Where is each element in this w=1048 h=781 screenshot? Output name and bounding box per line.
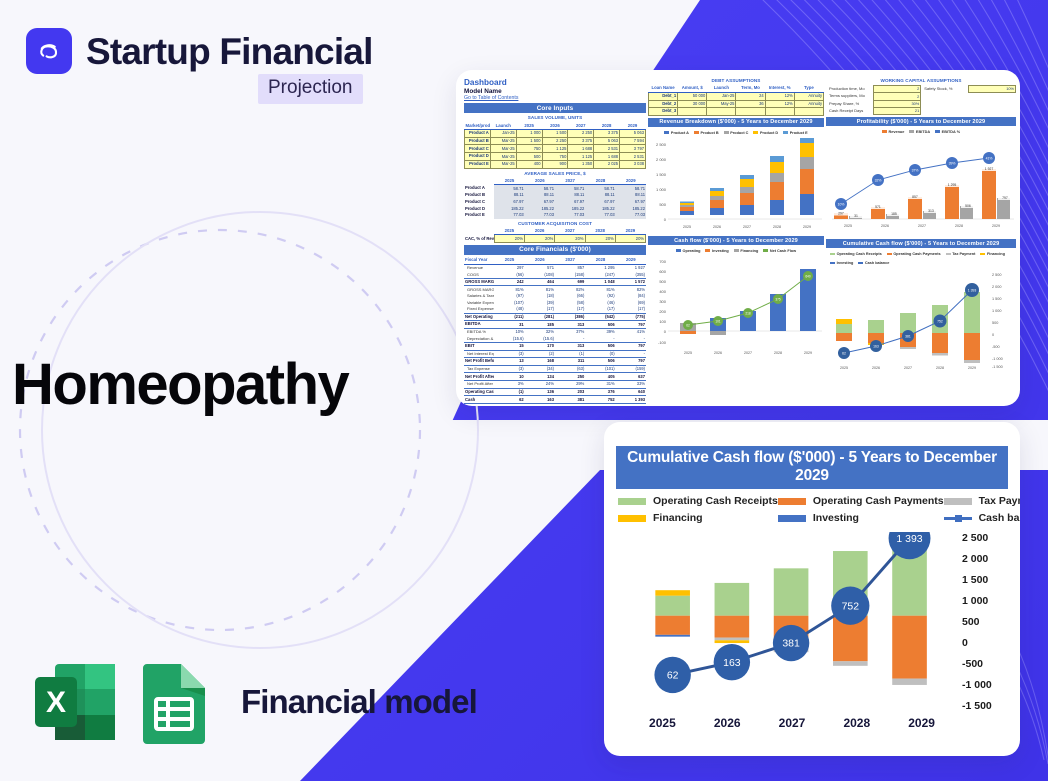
svg-text:2 500: 2 500 bbox=[656, 142, 667, 147]
row-value: 1 572 bbox=[616, 278, 646, 286]
row-value: (247) bbox=[585, 271, 615, 278]
svg-text:400: 400 bbox=[659, 289, 666, 294]
table-row: Product EMar-254009001 3502 0253 038 bbox=[465, 160, 646, 168]
y-tick: 500 bbox=[962, 616, 980, 628]
row-value: 41% bbox=[616, 328, 646, 335]
row-value: 464 bbox=[525, 278, 555, 286]
svg-text:2025: 2025 bbox=[840, 366, 848, 370]
bar-segment bbox=[892, 616, 927, 679]
row-value: (3) bbox=[494, 365, 524, 373]
svg-text:2 000: 2 000 bbox=[656, 157, 667, 162]
working-capital-header: WORKING CAPITAL ASSUMPTIONS bbox=[826, 78, 1016, 83]
dashboard-right-column: WORKING CAPITAL ASSUMPTIONS Production t… bbox=[826, 78, 1016, 404]
row-value: 313 bbox=[555, 321, 585, 329]
row-value: 640 bbox=[616, 388, 646, 396]
row-value: 506 bbox=[585, 358, 615, 366]
svg-text:752: 752 bbox=[937, 320, 943, 324]
legend-label: Cash balance bbox=[979, 512, 1020, 524]
table-row: Product AJan-251 0001 5002 2503 3755 063 bbox=[465, 130, 646, 138]
table-row: Fixed Expenses(48)(17)(17)(17)(17) bbox=[464, 306, 646, 313]
row-label: Cash bbox=[464, 396, 494, 404]
row-value: (355) bbox=[616, 271, 646, 278]
row-value: - bbox=[616, 350, 646, 358]
model-name-label: Model Name bbox=[464, 88, 646, 95]
dashboard-heading-block: Dashboard Model Name Go to Table of Cont… bbox=[464, 78, 646, 101]
cac-table: 2025 2026 2027 2028 2029 CAC, % of Reven… bbox=[464, 228, 646, 243]
bar-segment bbox=[892, 679, 927, 685]
row-value: 797 bbox=[616, 358, 646, 366]
row-value: 311 bbox=[555, 358, 585, 366]
svg-text:31: 31 bbox=[854, 214, 858, 218]
legend-item: Financing bbox=[980, 252, 1005, 256]
svg-text:2 000: 2 000 bbox=[992, 285, 1002, 289]
row-value: (386) bbox=[555, 313, 585, 321]
dashboard-left-column: Dashboard Model Name Go to Table of Cont… bbox=[464, 78, 646, 404]
dashboard-middle-column: DEBT ASSUMPTIONS Loan Name Amount, $ Lau… bbox=[648, 78, 824, 404]
col-year-2026: 2026 bbox=[525, 257, 555, 264]
legend-item: Operating bbox=[676, 249, 701, 253]
chart-x-axis: 2025 2026 2027 2028 2029 bbox=[630, 716, 954, 730]
col-term: Term, Mo bbox=[736, 85, 765, 92]
y-tick: 0 bbox=[962, 637, 968, 649]
table-row: GROSS MARGIN2424646991 0481 572 bbox=[464, 278, 646, 286]
legend-item: Operating Cash Payments bbox=[887, 252, 941, 256]
svg-text:1 927: 1 927 bbox=[985, 167, 994, 171]
legend-label: Investing bbox=[813, 512, 859, 524]
svg-text:300: 300 bbox=[659, 299, 666, 304]
bar-segment bbox=[715, 640, 750, 643]
brand-logo-icon bbox=[26, 28, 72, 74]
row-value: (0) bbox=[585, 350, 615, 358]
poster-canvas: Startup Financial Projection Homeopathy … bbox=[0, 0, 1048, 781]
svg-text:2028: 2028 bbox=[936, 366, 944, 370]
row-value: 168 bbox=[525, 358, 555, 366]
row-label: Net Interest Expense bbox=[464, 350, 494, 358]
svg-text:571: 571 bbox=[875, 205, 881, 209]
svg-text:2027: 2027 bbox=[744, 351, 752, 355]
svg-text:-1 000: -1 000 bbox=[992, 357, 1003, 361]
row-value: (48) bbox=[494, 306, 524, 313]
col-year-2028: 2028 bbox=[585, 257, 615, 264]
row-label: GROSS MARGIN % bbox=[464, 286, 494, 293]
legend-item-operating-cash-receipts: Operating Cash Receipts bbox=[618, 495, 778, 507]
core-financials-table: Fiscal Year 2025 2026 2027 2028 2029 Rev… bbox=[464, 257, 646, 404]
row-value: (108) bbox=[525, 271, 555, 278]
legend-item: Investing bbox=[705, 249, 728, 253]
row-value: 82% bbox=[616, 286, 646, 293]
table-row: Product DMar-255007501 1251 6882 531 bbox=[465, 153, 646, 161]
svg-text:2029: 2029 bbox=[803, 225, 811, 229]
legend-item-tax-payment: Tax Payment bbox=[944, 495, 1020, 507]
table-row: GROSS MARGIN %81%81%82%81%82% bbox=[464, 286, 646, 293]
table-row: EBITDA31185313506797 bbox=[464, 321, 646, 329]
row-value: 136 bbox=[525, 388, 555, 396]
svg-text:2026: 2026 bbox=[713, 225, 721, 229]
row-label: Salaries & Taxes bbox=[464, 293, 494, 300]
dashboard-preview-card[interactable]: Dashboard Model Name Go to Table of Cont… bbox=[456, 70, 1020, 406]
row-value: 81% bbox=[525, 286, 555, 293]
profitability-chart: 10%32%37% 39%41% 297 31 571 185 857 313 … bbox=[826, 137, 1016, 237]
legend-item-operating-cash-payments: Operating Cash Payments bbox=[778, 495, 944, 507]
profitability-legend: Revenue EBITDA EBITDA % bbox=[826, 128, 1016, 135]
col-market-product: Market/product bbox=[465, 122, 491, 129]
cumulative-cash-flow-legend: Operating Cash Receipts Operating Cash P… bbox=[826, 250, 1016, 266]
x-tick: 2029 bbox=[889, 716, 954, 730]
row-value: (56) bbox=[494, 271, 524, 278]
svg-text:0: 0 bbox=[992, 333, 994, 337]
table-row: Product BMar-251 5002 2503 3755 0637 594 bbox=[465, 137, 646, 145]
table-row: CAC, % of Revenue20%20%20%20%20% bbox=[464, 235, 646, 243]
row-value: (17) bbox=[616, 306, 646, 313]
row-label: Net Profit Before Tax bbox=[464, 358, 494, 366]
svg-text:2026: 2026 bbox=[872, 366, 880, 370]
row-value: (158) bbox=[555, 271, 585, 278]
row-value: (34) bbox=[525, 365, 555, 373]
data-label: 381 bbox=[782, 639, 800, 650]
legend-item: Product B bbox=[694, 131, 719, 135]
row-value: (17) bbox=[525, 306, 555, 313]
cumulative-cash-flow-chart: 2 5002 0001 500 1 0005000 -500-1 000-1 5… bbox=[826, 268, 1016, 372]
table-row: Net Operating Expenses(211)(281)(386)(54… bbox=[464, 313, 646, 321]
col-year-2026: 2026 bbox=[525, 228, 555, 235]
table-row: Debt_3 bbox=[649, 108, 824, 116]
row-value: (15.6) bbox=[494, 335, 524, 342]
brand-header: Startup Financial bbox=[26, 28, 373, 74]
data-label: 752 bbox=[842, 601, 860, 612]
row-value: 571 bbox=[525, 264, 555, 271]
svg-text:2029: 2029 bbox=[992, 224, 1000, 228]
svg-text:32%: 32% bbox=[875, 179, 882, 183]
legend-item: Operating Cash Receipts bbox=[830, 252, 882, 256]
row-value: (2) bbox=[525, 350, 555, 358]
row-value: 797 bbox=[616, 342, 646, 350]
svg-text:500: 500 bbox=[659, 279, 666, 284]
legend-swatch bbox=[618, 515, 646, 522]
bar-segment bbox=[655, 596, 690, 616]
row-label: Net Profit After Tax % bbox=[464, 381, 494, 389]
col-fiscal-year: Fiscal Year bbox=[464, 257, 494, 264]
row-label: COGS bbox=[464, 271, 494, 278]
legend-swatch bbox=[944, 498, 972, 505]
legend-item: Product C bbox=[724, 131, 749, 135]
table-row: Cash621633817521 393 bbox=[464, 396, 646, 404]
legend-label: Financing bbox=[653, 512, 703, 524]
svg-text:0: 0 bbox=[664, 329, 667, 334]
row-value: 13 bbox=[494, 358, 524, 366]
svg-text:41%: 41% bbox=[986, 157, 993, 161]
col-year-2029: 2029 bbox=[616, 178, 646, 185]
google-sheets-icon bbox=[137, 659, 211, 745]
cumulative-cash-flow-chart-title: Cumulative Cash flow ($'000) - 5 Years t… bbox=[826, 239, 1016, 248]
col-year-2029: 2029 bbox=[615, 228, 645, 235]
legend-item: Product A bbox=[664, 131, 689, 135]
chart-legend: Operating Cash Receipts Operating Cash P… bbox=[618, 495, 1006, 524]
cash-flow-chart: 700600500 400300200 1000-100 bbox=[648, 256, 824, 360]
row-value: 134 bbox=[525, 373, 555, 381]
col-year-2025: 2025 bbox=[494, 178, 524, 185]
svg-text:-500: -500 bbox=[992, 345, 1000, 349]
svg-text:2028: 2028 bbox=[955, 224, 963, 228]
row-value: 1 295 bbox=[585, 264, 615, 271]
table-row: EBITDA %10%32%37%39%41% bbox=[464, 328, 646, 335]
y-tick: -500 bbox=[962, 658, 983, 670]
microsoft-excel-icon: X bbox=[33, 659, 121, 745]
row-value: 81% bbox=[585, 286, 615, 293]
table-row: Net Profit After Tax10134250405637 bbox=[464, 373, 646, 381]
svg-text:2025: 2025 bbox=[683, 225, 691, 229]
table-row: Revenue2975718571 2951 927 bbox=[464, 264, 646, 271]
row-value: 203 bbox=[555, 388, 585, 396]
svg-text:101: 101 bbox=[715, 320, 721, 324]
svg-text:1 500: 1 500 bbox=[656, 172, 667, 177]
footer-formats: X Financial model bbox=[33, 659, 477, 745]
bar-segment bbox=[655, 590, 690, 595]
svg-text:2025: 2025 bbox=[684, 351, 692, 355]
col-year-2028: 2028 bbox=[585, 178, 615, 185]
svg-text:185: 185 bbox=[891, 212, 897, 216]
row-value: 39% bbox=[585, 328, 615, 335]
legend-item: Revenue bbox=[882, 130, 904, 134]
legend-swatch bbox=[778, 498, 806, 505]
row-label: Tax Expense bbox=[464, 365, 494, 373]
row-value: 31% bbox=[585, 381, 615, 389]
svg-text:700: 700 bbox=[659, 259, 666, 264]
legend-swatch bbox=[778, 515, 806, 522]
row-value: 699 bbox=[555, 278, 585, 286]
row-label: Depreciation & Amortization bbox=[464, 335, 494, 342]
legend-swatch-line bbox=[944, 515, 972, 522]
svg-text:37%: 37% bbox=[912, 169, 919, 173]
svg-text:2 500: 2 500 bbox=[992, 273, 1002, 277]
table-row: Net Profit Before Tax13168311506797 bbox=[464, 358, 646, 366]
chart-plot-area: 62 163 381 752 1 393 2 500 2 000 1 500 1… bbox=[604, 532, 1020, 732]
row-label: Revenue bbox=[464, 264, 494, 271]
y-tick: -1 000 bbox=[962, 679, 992, 691]
col-loan-name: Loan Name bbox=[649, 85, 678, 92]
table-row: Prepay Share, %30% bbox=[826, 100, 1016, 107]
row-value: 29% bbox=[555, 381, 585, 389]
debt-assumptions-header: DEBT ASSUMPTIONS bbox=[648, 78, 824, 83]
sales-volume-header: SALES VOLUME, UNITS bbox=[464, 115, 646, 120]
legend-item: Cash balance bbox=[858, 261, 889, 265]
row-value: 250 bbox=[555, 373, 585, 381]
sales-volume-table: Market/product Launch 2025 2026 2027 202… bbox=[464, 122, 646, 168]
data-label: 62 bbox=[667, 671, 679, 682]
row-value: 1 048 bbox=[585, 278, 615, 286]
row-value: 797 bbox=[616, 321, 646, 329]
col-year-2027: 2027 bbox=[555, 178, 585, 185]
svg-text:640: 640 bbox=[805, 275, 811, 279]
row-label: Net Profit After Tax bbox=[464, 373, 494, 381]
legend-label: Operating Cash Receipts bbox=[653, 495, 778, 507]
row-value: (17) bbox=[555, 306, 585, 313]
row-value: 405 bbox=[585, 373, 615, 381]
table-row: Tax Expense(3)(34)(63)(101)(159) bbox=[464, 365, 646, 373]
row-value: 31 bbox=[494, 321, 524, 329]
brand-subtitle: Projection bbox=[258, 74, 363, 104]
legend-item: Product D bbox=[753, 131, 778, 135]
legend-item: Financing bbox=[734, 249, 759, 253]
svg-text:2028: 2028 bbox=[773, 225, 781, 229]
svg-text:62: 62 bbox=[842, 352, 846, 356]
legend-item-investing: Investing bbox=[778, 512, 944, 524]
svg-text:506: 506 bbox=[965, 204, 971, 208]
col-launch: Launch bbox=[490, 122, 516, 129]
core-inputs-bar: Core Inputs bbox=[464, 103, 646, 113]
row-value: 170 bbox=[525, 342, 555, 350]
dashboard-title: Dashboard bbox=[464, 78, 646, 88]
row-value: 857 bbox=[555, 264, 585, 271]
svg-text:1 500: 1 500 bbox=[992, 297, 1002, 301]
table-row: Production time, Mo2Safety Stock, %10% bbox=[826, 86, 1016, 93]
col-year-2028: 2028 bbox=[585, 228, 615, 235]
col-year-2027: 2027 bbox=[555, 228, 585, 235]
svg-text:2028: 2028 bbox=[774, 351, 782, 355]
y-tick: 1 500 bbox=[962, 574, 988, 586]
row-value: (542) bbox=[585, 313, 615, 321]
table-row: Debt_150 000Jan-252412%Annuity bbox=[649, 92, 824, 100]
svg-text:2026: 2026 bbox=[714, 351, 722, 355]
col-year-2028: 2028 bbox=[594, 122, 620, 129]
row-value: (17) bbox=[585, 306, 615, 313]
table-of-contents-link[interactable]: Go to Table of Contents bbox=[464, 95, 646, 101]
table-row: Debt_230 000May-253612%Annuity bbox=[649, 100, 824, 108]
col-year-2029: 2029 bbox=[620, 122, 646, 129]
row-value: 185 bbox=[525, 321, 555, 329]
row-value: (159) bbox=[616, 365, 646, 373]
bar-segment bbox=[715, 583, 750, 616]
row-label: Net Operating Expenses bbox=[464, 313, 494, 321]
cumulative-cash-flow-card[interactable]: Cumulative Cash flow ($'000) - 5 Years t… bbox=[604, 422, 1020, 756]
row-value: 82% bbox=[555, 286, 585, 293]
core-financials-bar: Core Financials ($'000) bbox=[464, 245, 646, 255]
table-row: Net Profit After Tax %3%24%29%31%33% bbox=[464, 381, 646, 389]
chart-y-axis: 2 500 2 000 1 500 1 000 500 0 -500 -1 00… bbox=[958, 532, 1014, 708]
row-value: (1) bbox=[555, 350, 585, 358]
col-launch: Launch bbox=[707, 85, 736, 92]
table-row: Product C67.9767.9767.9767.9767.97 bbox=[464, 199, 646, 206]
svg-text:2029: 2029 bbox=[804, 351, 812, 355]
legend-label: Operating Cash Payments bbox=[813, 495, 944, 507]
row-value: 1 927 bbox=[616, 264, 646, 271]
row-value: - bbox=[585, 335, 615, 342]
row-value: 242 bbox=[494, 278, 524, 286]
table-row: Net Interest Expense(3)(2)(1)(0)- bbox=[464, 350, 646, 358]
col-type: Type bbox=[794, 85, 823, 92]
table-row: Product CMar-257501 1251 6882 5313 797 bbox=[465, 145, 646, 153]
col-year-2029: 2029 bbox=[616, 257, 646, 264]
col-year-2026: 2026 bbox=[525, 178, 555, 185]
chart-bars-and-line: 62 163 381 752 1 393 bbox=[628, 532, 956, 714]
bar-segment bbox=[655, 635, 690, 637]
table-row: Depreciation & Amortization(15.6)(15.6)-… bbox=[464, 335, 646, 342]
svg-text:857: 857 bbox=[912, 195, 918, 199]
row-label: EBITDA bbox=[464, 321, 494, 329]
svg-text:1 393: 1 393 bbox=[968, 289, 977, 293]
legend-item-financing: Financing bbox=[618, 512, 778, 524]
svg-text:X: X bbox=[46, 686, 66, 719]
svg-text:-100: -100 bbox=[658, 340, 667, 345]
row-value: (101) bbox=[585, 365, 615, 373]
revenue-breakdown-chart-title: Revenue Breakdown ($'000) - 5 Years to D… bbox=[648, 118, 824, 127]
row-value: 37% bbox=[555, 328, 585, 335]
legend-item: EBITDA % bbox=[935, 130, 960, 134]
table-row: Product E77.0377.0377.0377.0377.03 bbox=[464, 212, 646, 219]
row-value: 381 bbox=[555, 396, 585, 404]
svg-text:381: 381 bbox=[905, 335, 911, 339]
row-value: 10% bbox=[494, 328, 524, 335]
revenue-breakdown-chart: 2 5002 0001 500 1 0005000 202520262027 2… bbox=[648, 138, 824, 234]
row-value: 297 bbox=[494, 264, 524, 271]
table-row: Terms suppliers, Mo2 bbox=[826, 93, 1016, 100]
cash-flow-legend: Operating Investing Financing Net Cash F… bbox=[648, 247, 824, 254]
row-value: - bbox=[555, 335, 585, 342]
svg-text:-1 500: -1 500 bbox=[992, 365, 1003, 369]
svg-text:297: 297 bbox=[838, 211, 844, 215]
row-value: 752 bbox=[585, 396, 615, 404]
legend-item: Net Cash Flow bbox=[763, 249, 796, 253]
row-value: 62 bbox=[494, 396, 524, 404]
row-value: (63) bbox=[555, 365, 585, 373]
legend-item: Product E bbox=[783, 131, 808, 135]
svg-text:2027: 2027 bbox=[743, 225, 751, 229]
svg-text:2025: 2025 bbox=[844, 224, 852, 228]
y-tick: 2 000 bbox=[962, 553, 988, 565]
table-row: Product B88.1188.1188.1188.1188.11 bbox=[464, 192, 646, 199]
row-value: 15 bbox=[494, 342, 524, 350]
row-value: 1 393 bbox=[616, 396, 646, 404]
row-value: 33% bbox=[616, 381, 646, 389]
svg-text:2026: 2026 bbox=[881, 224, 889, 228]
x-tick: 2027 bbox=[760, 716, 825, 730]
row-label: Operating Cash Flows bbox=[464, 388, 494, 396]
row-value: 10 bbox=[494, 373, 524, 381]
col-year-2025: 2025 bbox=[494, 257, 524, 264]
table-row: Product A58.7158.7158.7158.7158.71 bbox=[464, 185, 646, 192]
row-value: 3% bbox=[494, 381, 524, 389]
col-year-2025: 2025 bbox=[494, 228, 524, 235]
svg-text:2027: 2027 bbox=[904, 366, 912, 370]
svg-text:375: 375 bbox=[775, 298, 781, 302]
chart-title: Cumulative Cash flow ($'000) - 5 Years t… bbox=[616, 446, 1008, 489]
svg-text:1 000: 1 000 bbox=[656, 187, 667, 192]
legend-item: Tax Payment bbox=[946, 252, 976, 256]
row-value: 637 bbox=[616, 373, 646, 381]
table-row: Product D185.22185.22185.22185.22185.22 bbox=[464, 205, 646, 212]
table-row: Operating Cash Flows(1)136203376640 bbox=[464, 388, 646, 396]
legend-label: Tax Payment bbox=[979, 495, 1020, 507]
col-year-2026: 2026 bbox=[542, 122, 568, 129]
svg-text:163: 163 bbox=[873, 345, 879, 349]
legend-item: EBITDA bbox=[909, 130, 930, 134]
cash-flow-chart-title: Cash flow ($'000) - 5 Years to December … bbox=[648, 236, 824, 245]
row-value: 32% bbox=[525, 328, 555, 335]
row-label: Fixed Expenses bbox=[464, 306, 494, 313]
svg-text:600: 600 bbox=[659, 269, 666, 274]
legend-item-cash-balance: Cash balance bbox=[944, 512, 1020, 524]
bar-segment bbox=[715, 616, 750, 638]
avg-price-table: 2025 2026 2027 2028 2029 Product A58.715… bbox=[464, 178, 646, 219]
row-value: (211) bbox=[494, 313, 524, 321]
table-row: EBIT15170313506797 bbox=[464, 342, 646, 350]
bar-segment bbox=[715, 638, 750, 641]
svg-text:10%: 10% bbox=[838, 203, 845, 207]
row-value: (281) bbox=[525, 313, 555, 321]
row-value: 163 bbox=[525, 396, 555, 404]
y-tick: -1 500 bbox=[962, 700, 992, 712]
svg-text:218: 218 bbox=[745, 312, 751, 316]
data-label: 163 bbox=[723, 658, 741, 669]
